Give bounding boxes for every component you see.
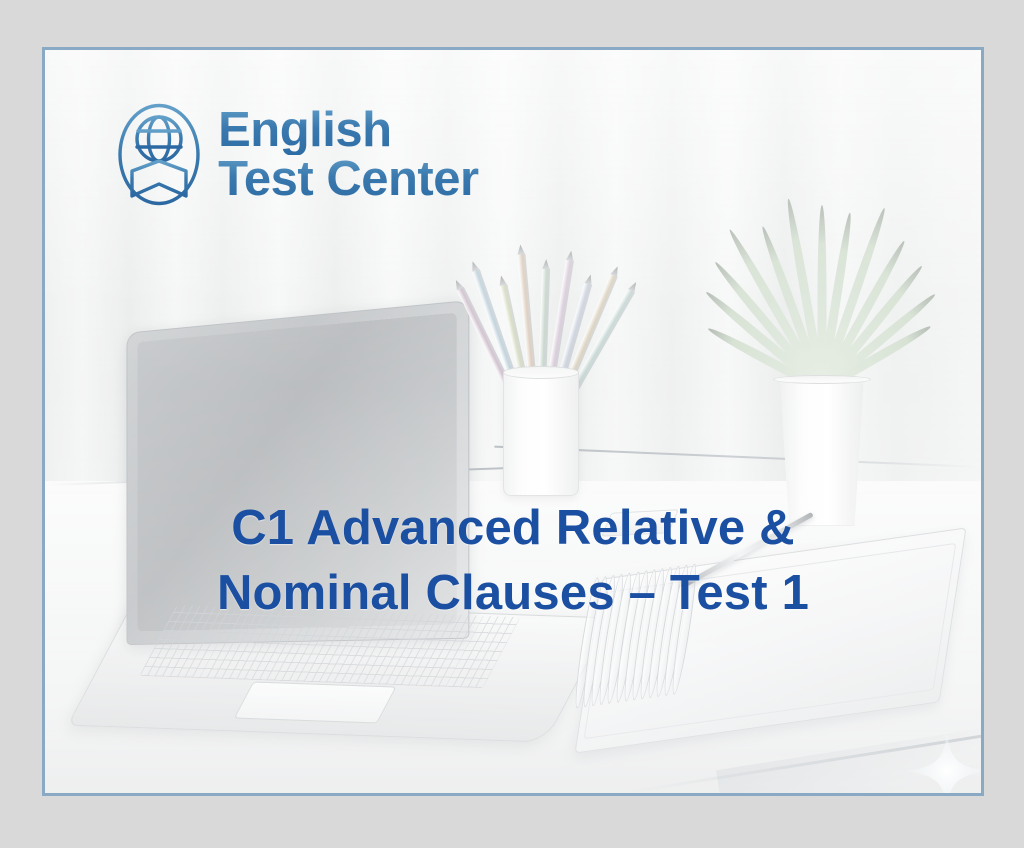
poster-card: English Test Center C1 Advanced Relative… [42,47,984,796]
pencil-cup [490,258,593,496]
sparkle-star-icon [899,723,984,796]
brand-wordmark: English Test Center [218,106,478,202]
cup-body [503,370,579,496]
brand-line-2: Test Center [218,155,478,203]
brand-line-1: English [218,106,478,154]
brand-logo: English Test Center [116,102,478,207]
laptop-trackpad [234,681,397,724]
globe-book-oval-icon [116,102,202,207]
potted-plant [738,228,906,525]
page-title-line-2: Nominal Clauses – Test 1 [67,561,959,626]
page-title: C1 Advanced Relative & Nominal Clauses –… [45,496,981,626]
page-title-line-1: C1 Advanced Relative & [67,496,959,561]
